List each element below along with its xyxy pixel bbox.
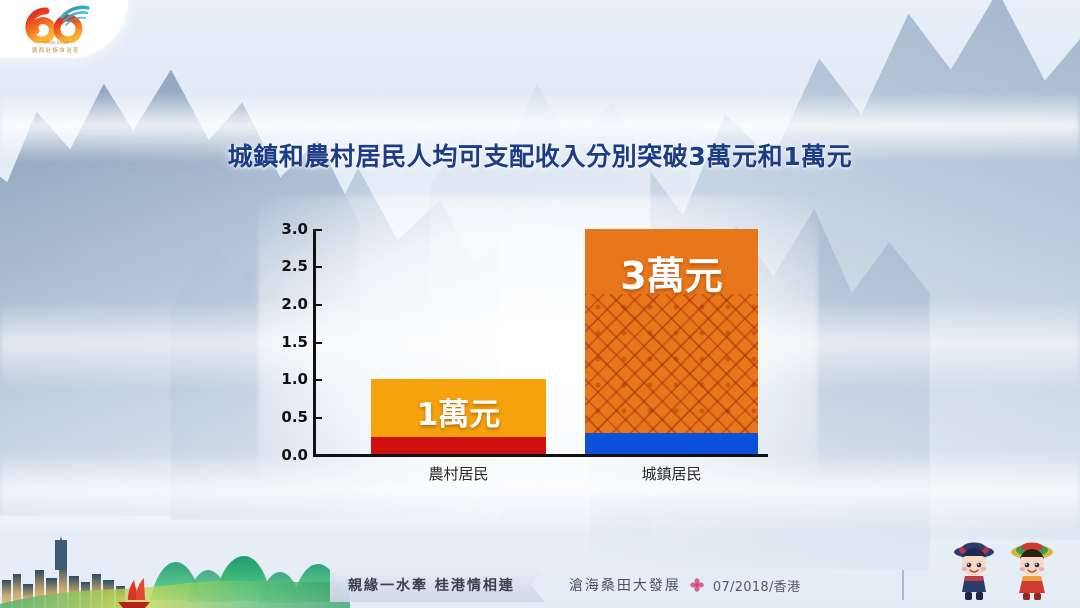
footer-divider (902, 570, 904, 600)
mascot-girl (1011, 543, 1053, 601)
bar-chart: 3.0 2.5 2.0 1.5 1.0 0.5 0.0 1萬元 (270, 215, 790, 470)
x-axis-line (313, 454, 768, 457)
footer-slogan: 滄海桑田大發展 (569, 575, 681, 595)
footer-date: 07/2018/香港 (713, 576, 800, 595)
bar-rural-base (371, 437, 546, 454)
bar-urban-brocade-pattern (585, 294, 758, 454)
mascot-boy (954, 543, 994, 601)
slide-footer: 親緣一水牽 桂港情相連 滄海桑田大發展 07/2018/香港 (0, 524, 1080, 608)
bar-urban-residents[interactable]: 3萬元 (585, 229, 758, 454)
y-axis-labels: 3.0 2.5 2.0 1.5 1.0 0.5 0.0 (270, 229, 308, 455)
mascot-pair (934, 536, 1074, 602)
slide-canvas: 1958-2018 廣西壯族自治區 城鎮和農村居民人均可支配收入分別突破3萬元和… (0, 0, 1080, 608)
logo-subtitle: 廣西壯族自治區 (8, 46, 104, 54)
y-tick-label-1.0: 1.0 (272, 370, 308, 388)
footer-right-group: 滄海桑田大發展 07/2018/香港 (569, 575, 800, 595)
hongkong-guilin-skyline (0, 530, 350, 608)
y-tick-label-2.5: 2.5 (272, 257, 308, 275)
footer-text-bar: 親緣一水牽 桂港情相連 滄海桑田大發展 07/2018/香港 (330, 568, 890, 602)
y-tick-label-3.0: 3.0 (272, 220, 308, 238)
x-tick-label-urban: 城鎮居民 (585, 463, 758, 484)
y-tick-label-0.5: 0.5 (272, 408, 308, 426)
bar-rural-residents[interactable]: 1萬元 (371, 379, 546, 454)
footer-banner: 親緣一水牽 桂港情相連 (330, 568, 545, 602)
footer-banner-text: 親緣一水牽 桂港情相連 (348, 575, 515, 595)
flower-icon (690, 578, 704, 592)
y-tick-label-2.0: 2.0 (272, 295, 308, 313)
logo-years: 1958-2018 (8, 40, 104, 45)
bar-urban-base (585, 433, 758, 454)
x-tick-label-rural: 農村居民 (371, 463, 546, 484)
logo-svg (16, 1, 96, 43)
slide-title: 城鎮和農村居民人均可支配收入分別突破3萬元和1萬元 (0, 137, 1080, 173)
plot-area: 1萬元 3萬元 (313, 229, 768, 454)
y-tick-label-0.0: 0.0 (272, 446, 308, 464)
bar-rural-value-label: 1萬元 (371, 389, 546, 434)
bar-urban-value-label: 3萬元 (585, 245, 758, 300)
y-tick-label-1.5: 1.5 (272, 333, 308, 351)
